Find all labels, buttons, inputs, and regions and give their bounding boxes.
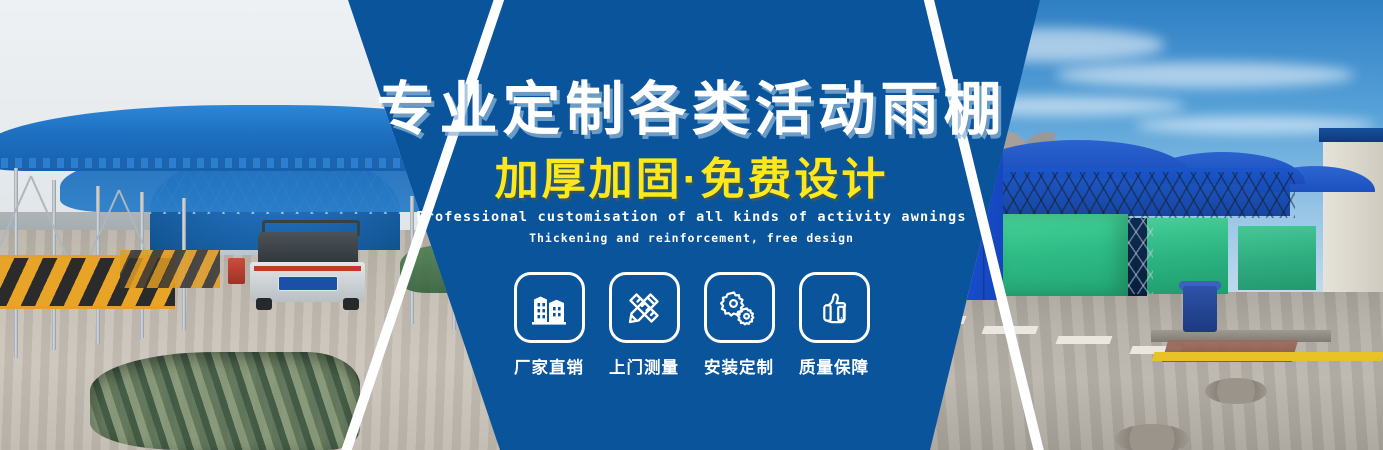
thumbs-up-icon	[815, 289, 853, 327]
banner-title: 专业定制各类活动雨棚	[0, 62, 1383, 146]
building-icon	[530, 289, 568, 327]
feature-icon-frame	[704, 272, 775, 343]
feature-label: 安装定制	[704, 354, 774, 378]
pencil-ruler-icon	[624, 288, 664, 328]
english-tagline-primary: Professional customisation of all kinds …	[0, 209, 1383, 225]
feature-icon-frame	[609, 272, 680, 343]
feature-item-onsite-measure[interactable]: 上门测量	[608, 272, 681, 378]
feature-label: 上门测量	[609, 354, 679, 378]
feature-item-install-custom[interactable]: 安装定制	[703, 272, 776, 378]
feature-icon-frame	[514, 272, 585, 343]
gears-icon	[719, 288, 759, 328]
feature-label: 质量保障	[799, 354, 869, 378]
english-tagline-secondary: Thickening and reinforcement, free desig…	[0, 231, 1383, 245]
center-content: 专业定制各类活动雨棚 加厚加固·免费设计 Professional custom…	[0, 0, 1383, 450]
feature-item-factory-direct[interactable]: 厂家直销	[513, 272, 586, 378]
promo-banner: 专业定制各类活动雨棚 加厚加固·免费设计 Professional custom…	[0, 0, 1383, 450]
banner-subtitle: 加厚加固·免费设计	[0, 143, 1383, 207]
feature-label: 厂家直销	[514, 354, 584, 378]
feature-icon-frame	[799, 272, 870, 343]
feature-item-quality-guarantee[interactable]: 质量保障	[798, 272, 871, 378]
feature-list: 厂家直销	[0, 272, 1383, 378]
